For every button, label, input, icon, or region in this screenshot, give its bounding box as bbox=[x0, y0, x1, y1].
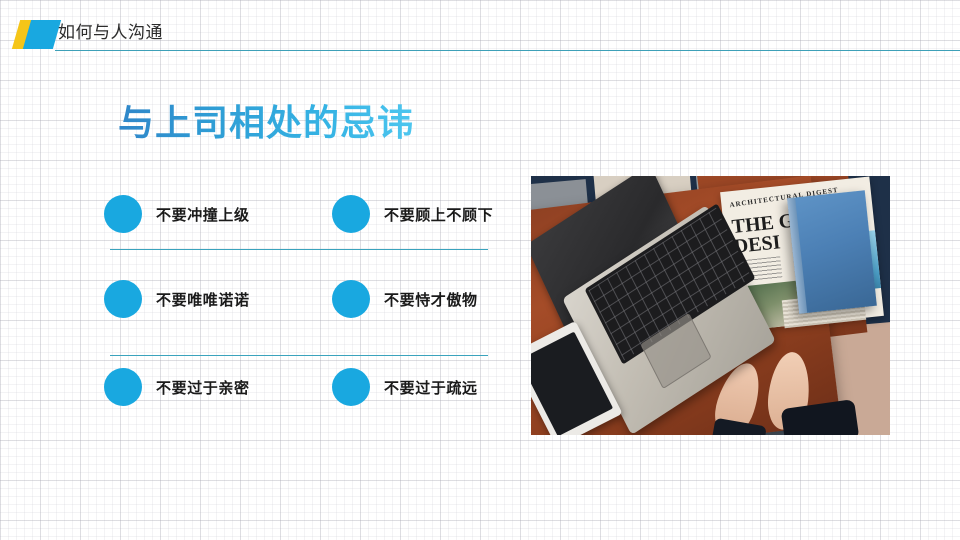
bullet-item-6[interactable]: 不要过于疏远 bbox=[332, 368, 520, 406]
bullet-dot-icon bbox=[104, 280, 142, 318]
bullet-row: 不要过于亲密 不要过于疏远 bbox=[104, 355, 520, 419]
page-title: 与上司相处的忌讳 bbox=[118, 99, 414, 147]
bullet-label: 不要恃才傲物 bbox=[384, 289, 478, 310]
bullet-label: 不要冲撞上级 bbox=[156, 204, 250, 225]
header-divider bbox=[55, 50, 960, 51]
header-title: 如何与人沟通 bbox=[58, 21, 163, 45]
bullet-divider-1 bbox=[110, 249, 488, 250]
bullet-dot-icon bbox=[332, 280, 370, 318]
bullet-label: 不要唯唯诺诺 bbox=[156, 289, 250, 310]
desk-photo: ARCHITECTURAL DIGEST THE G DESI bbox=[531, 176, 890, 435]
bullet-item-4[interactable]: 不要恃才傲物 bbox=[332, 280, 520, 318]
bullet-item-1[interactable]: 不要冲撞上级 bbox=[104, 195, 332, 233]
bullet-item-5[interactable]: 不要过于亲密 bbox=[104, 368, 332, 406]
blue-book bbox=[787, 190, 877, 314]
bullet-dot-icon bbox=[104, 195, 142, 233]
bullet-dot-icon bbox=[332, 195, 370, 233]
bullet-row: 不要唯唯诺诺 不要恃才傲物 bbox=[104, 267, 520, 331]
bullet-item-3[interactable]: 不要唯唯诺诺 bbox=[104, 280, 332, 318]
bullet-dot-icon bbox=[104, 368, 142, 406]
bullet-grid: 不要冲撞上级 不要顾上不顾下 不要唯唯诺诺 不要恃才傲物 不要过于亲密 bbox=[104, 176, 520, 438]
bullet-dot-icon bbox=[332, 368, 370, 406]
slide-header: 如何与人沟通 bbox=[0, 0, 960, 56]
slide-root: 如何与人沟通 与上司相处的忌讳 不要冲撞上级 不要顾上不顾下 不要唯唯诺诺 不 bbox=[0, 0, 960, 540]
bullet-label: 不要过于疏远 bbox=[384, 377, 478, 398]
bullet-label: 不要顾上不顾下 bbox=[384, 204, 493, 225]
bullet-item-2[interactable]: 不要顾上不顾下 bbox=[332, 195, 520, 233]
bullet-label: 不要过于亲密 bbox=[156, 377, 250, 398]
desk-photo-content: ARCHITECTURAL DIGEST THE G DESI bbox=[531, 176, 890, 435]
bullet-row: 不要冲撞上级 不要顾上不顾下 bbox=[104, 182, 520, 246]
